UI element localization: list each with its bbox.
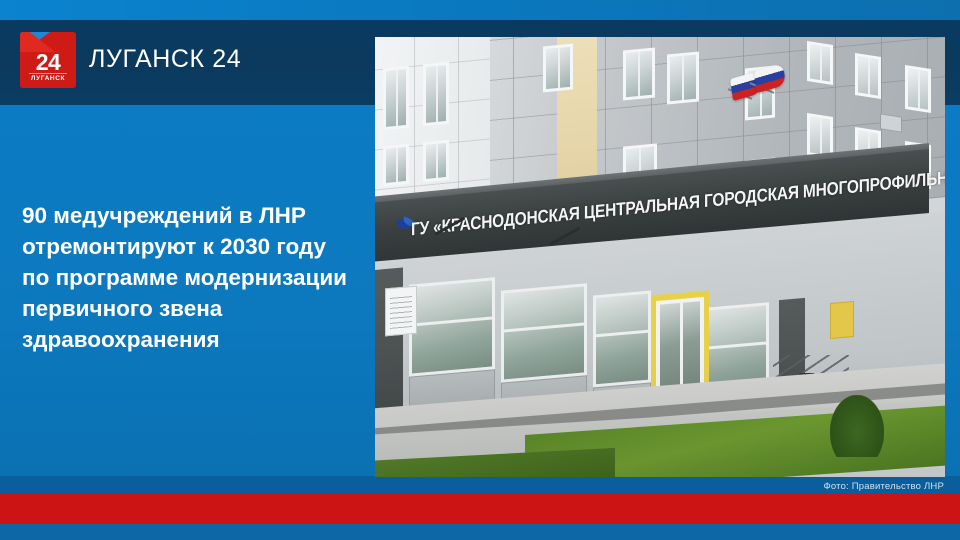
information-plate <box>830 301 854 339</box>
bottom-red-bar <box>0 493 960 524</box>
air-conditioner <box>880 113 902 132</box>
notice-board <box>385 286 417 337</box>
window <box>543 44 573 93</box>
logo-caption: ЛУГАНСК <box>20 75 76 82</box>
window <box>667 51 699 104</box>
window <box>383 66 409 131</box>
bottom-blue-bar <box>0 524 960 540</box>
storefront-window <box>593 290 651 387</box>
channel-title: ЛУГАНСК 24 <box>89 45 241 74</box>
top-accent-strip <box>0 0 960 20</box>
window <box>807 41 833 85</box>
window <box>423 62 449 127</box>
headline-text: 90 медучреждений в ЛНР отремонтируют к 2… <box>22 200 352 355</box>
storefront-window <box>409 277 495 377</box>
news-lower-third-graphic: 24 ЛУГАНСК ЛУГАНСК 24 90 медучреждений в… <box>0 0 960 540</box>
lugansk24-logo: 24 ЛУГАНСК <box>20 32 76 88</box>
news-photo: ГУ «КРАСНОДОНСКАЯ ЦЕНТРАЛЬНАЯ ГОРОДСКАЯ … <box>375 37 945 477</box>
window <box>855 53 881 99</box>
shrub <box>830 395 884 457</box>
logo-divider <box>29 73 67 74</box>
window <box>623 47 655 100</box>
photo-credit: Фото: Правительство ЛНР <box>823 481 944 492</box>
window <box>383 144 409 187</box>
logo-number: 24 <box>20 50 76 74</box>
storefront-window <box>501 283 587 383</box>
window <box>905 65 931 113</box>
window <box>423 140 449 183</box>
